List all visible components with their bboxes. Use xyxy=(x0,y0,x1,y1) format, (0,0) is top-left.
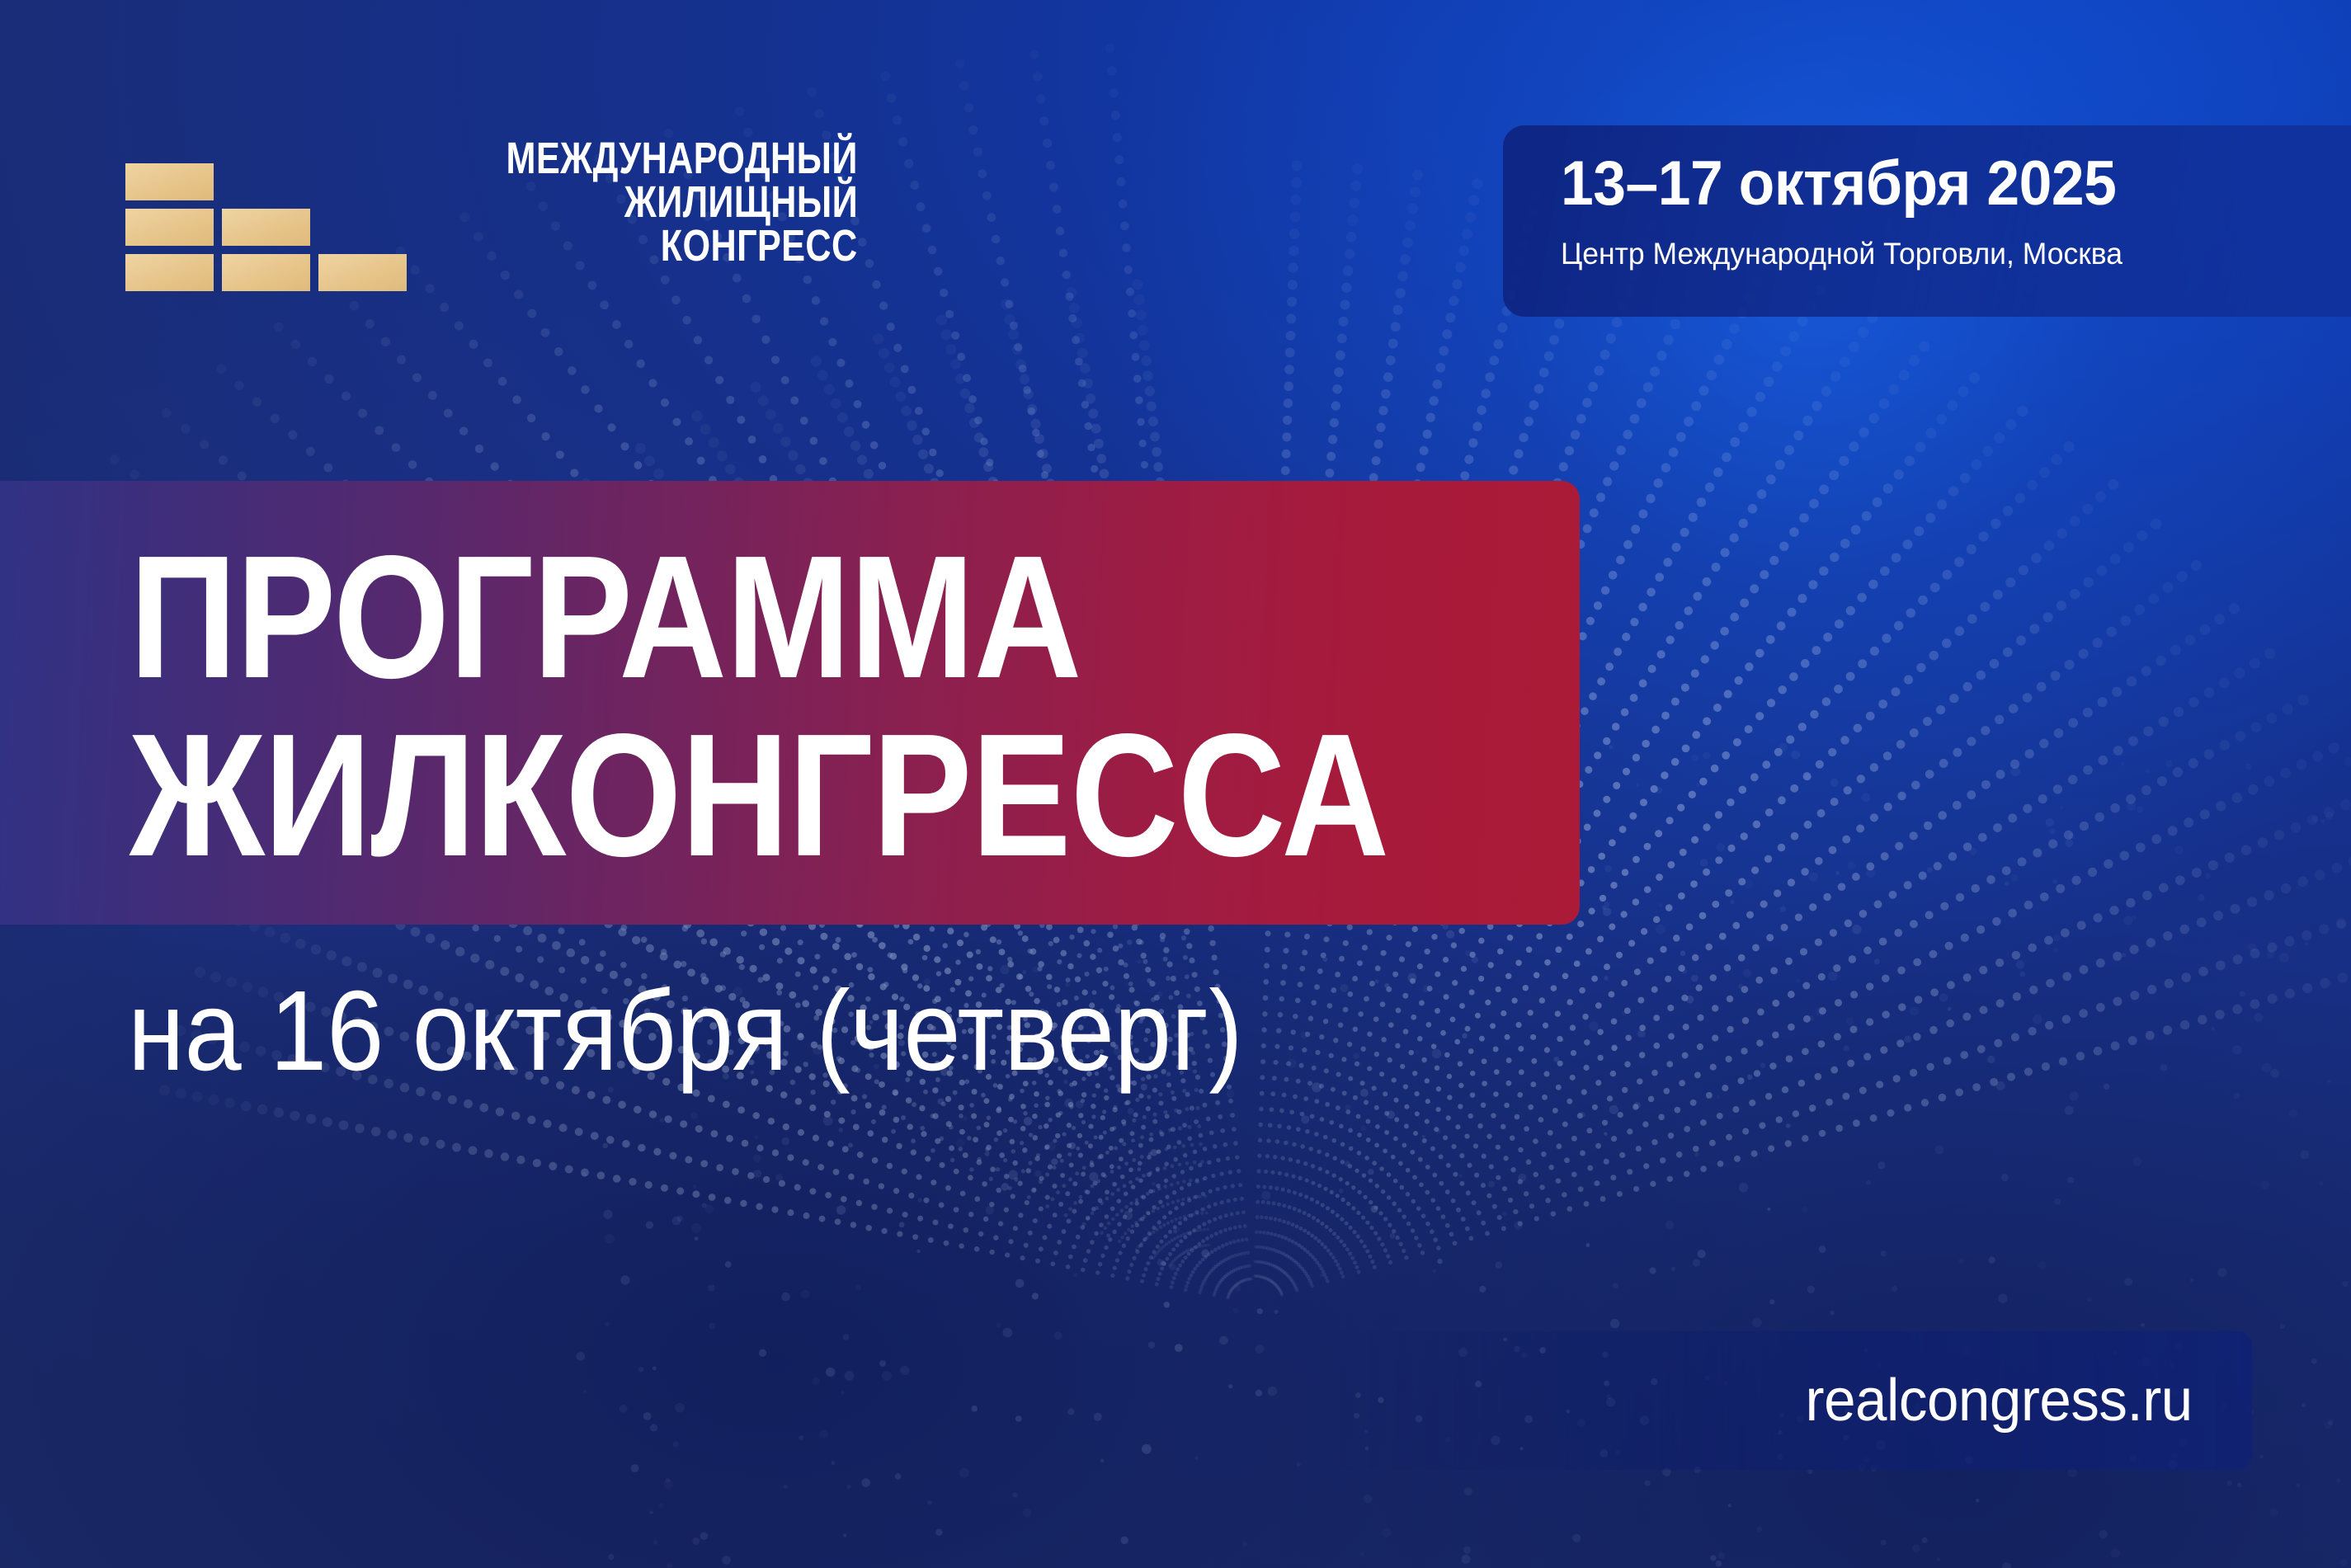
logo-block xyxy=(125,163,214,200)
logo-block-row-3 xyxy=(125,254,407,291)
logo-block-row-2 xyxy=(125,209,407,246)
event-dates: 13–17 октября 2025 xyxy=(1561,153,2351,215)
title-line-1: ПРОГРАММА xyxy=(130,528,1388,706)
poster-canvas: МЕЖДУНАРОДНЫЙ ЖИЛИЩНЫЙ КОНГРЕСС 13–17 ок… xyxy=(0,0,2351,1568)
logo-line-1: МЕЖДУНАРОДНЫЙ xyxy=(506,137,858,181)
event-date-badge: 13–17 октября 2025 Центр Международной Т… xyxy=(1503,125,2351,317)
page-subtitle: на 16 октября (четверг) xyxy=(128,972,1243,1091)
event-venue: Центр Международной Торговли, Москва xyxy=(1561,238,2351,269)
title-line-2: ЖИЛКОНГРЕССА xyxy=(130,706,1388,884)
logo-block xyxy=(222,254,310,291)
page-title: ПРОГРАММА ЖИЛКОНГРЕССА xyxy=(130,528,1602,884)
website-url: realcongress.ru xyxy=(1806,1371,2193,1430)
logo-block-row-1 xyxy=(125,163,407,200)
logo-block xyxy=(125,254,214,291)
logo-line-3: КОНГРЕСС xyxy=(661,224,858,268)
logo-block-grid xyxy=(125,137,407,291)
website-badge[interactable]: realcongress.ru xyxy=(1310,1331,2252,1470)
logo-block xyxy=(222,209,310,246)
logo-block xyxy=(318,254,407,291)
logo-line-2: ЖИЛИЩНЫЙ xyxy=(624,181,858,224)
congress-logo[interactable]: МЕЖДУНАРОДНЫЙ ЖИЛИЩНЫЙ КОНГРЕСС xyxy=(125,137,858,291)
logo-block xyxy=(125,209,214,246)
logo-wordmark: МЕЖДУНАРОДНЫЙ ЖИЛИЩНЫЙ КОНГРЕСС xyxy=(418,137,858,268)
